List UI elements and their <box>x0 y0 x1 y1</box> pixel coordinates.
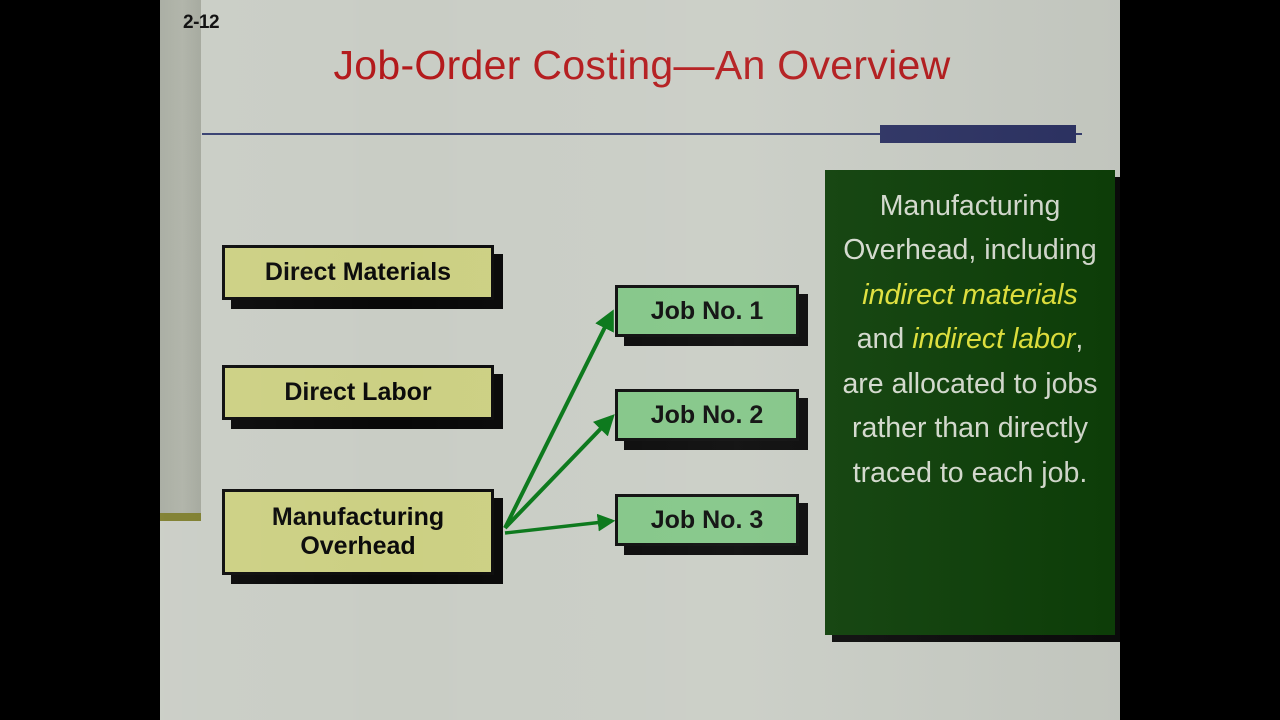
screenshot-stage: 2-12 Job-Order Costing—An Overview Direc… <box>0 0 1280 720</box>
letterbox-bar-right <box>1120 0 1280 720</box>
callout-emphasis-indirect-labor: indirect labor <box>912 323 1075 355</box>
job-box-2-label: Job No. 2 <box>651 401 764 430</box>
slide-left-accent-bar <box>160 513 201 521</box>
callout-text-part1: Manufacturing Overhead, including <box>843 190 1097 266</box>
page-title: Job-Order Costing—An Overview <box>202 42 1082 89</box>
cost-box-direct-materials-label: Direct Materials <box>265 258 451 287</box>
job-box-3[interactable]: Job No. 3 <box>615 494 799 546</box>
title-divider-block <box>880 125 1076 143</box>
cost-box-manufacturing-overhead-label-line1: Manufacturing <box>272 503 444 532</box>
job-box-1-label: Job No. 1 <box>651 297 764 326</box>
job-box-3-label: Job No. 3 <box>651 506 764 535</box>
cost-box-direct-labor[interactable]: Direct Labor <box>222 365 494 420</box>
slide-number: 2-12 <box>183 12 219 34</box>
arrow-overhead-to-job-3 <box>505 521 612 533</box>
letterbox-bar-left <box>0 0 160 720</box>
cost-box-direct-materials[interactable]: Direct Materials <box>222 245 494 300</box>
job-box-2[interactable]: Job No. 2 <box>615 389 799 441</box>
overhead-explanation-callout: Manufacturing Overhead, including indire… <box>825 170 1115 635</box>
slide-left-decorative-band <box>160 0 201 513</box>
arrow-overhead-to-job-1 <box>505 313 612 528</box>
cost-box-manufacturing-overhead[interactable]: Manufacturing Overhead <box>222 489 494 575</box>
presentation-slide: 2-12 Job-Order Costing—An Overview Direc… <box>160 0 1120 720</box>
arrow-overhead-to-job-2 <box>505 417 612 528</box>
cost-box-direct-labor-label: Direct Labor <box>284 378 431 407</box>
cost-box-manufacturing-overhead-label-line2: Overhead <box>300 532 415 561</box>
callout-text-part2: and <box>857 323 912 355</box>
callout-emphasis-indirect-materials: indirect materials <box>862 279 1077 311</box>
job-box-1[interactable]: Job No. 1 <box>615 285 799 337</box>
